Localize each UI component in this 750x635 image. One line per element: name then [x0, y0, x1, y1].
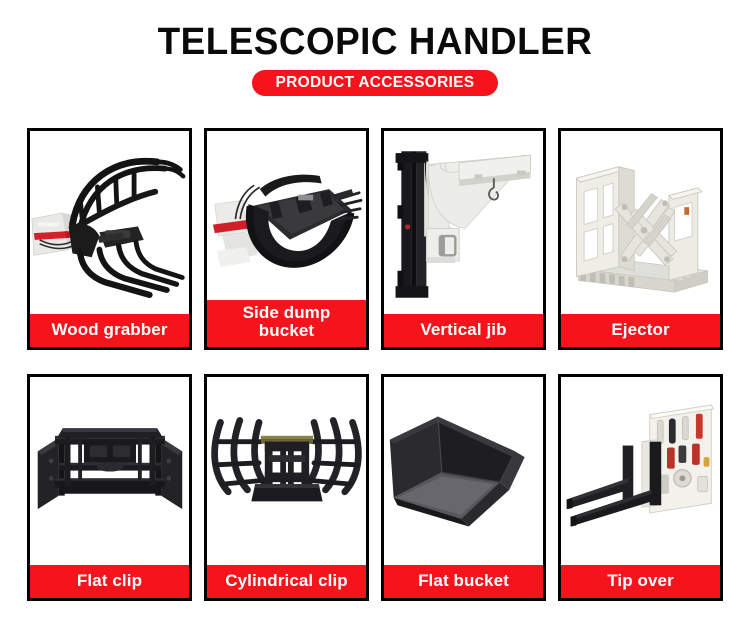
page-title: TELESCOPIC HANDLER [11, 22, 739, 62]
product-card-side-dump-bucket[interactable]: Side dump bucket [204, 128, 369, 350]
product-card-flat-clip[interactable]: Flat clip [27, 374, 192, 601]
page-header: TELESCOPIC HANDLER PRODUCT ACCESSORIES [0, 0, 750, 96]
vertical-jib-icon [384, 131, 543, 314]
product-image-ejector [561, 131, 720, 314]
product-card-ejector[interactable]: Ejector [558, 128, 723, 350]
flat-bucket-icon [384, 377, 543, 565]
product-label-ejector: Ejector [561, 314, 720, 347]
product-label-vertical-jib: Vertical jib [384, 314, 543, 347]
product-label-side-dump-bucket: Side dump bucket [207, 300, 366, 347]
product-image-vertical-jib [384, 131, 543, 314]
grapple-icon [30, 131, 189, 314]
product-image-flat-bucket [384, 377, 543, 565]
tip-over-forks-icon [561, 377, 720, 565]
ejector-icon [561, 131, 720, 314]
product-image-side-dump-bucket [207, 131, 366, 300]
product-card-wood-grabber[interactable]: Wood grabber [27, 128, 192, 350]
product-grid: Wood grabber [27, 128, 723, 601]
flat-clip-icon [30, 377, 189, 565]
product-label-cylindrical-clip: Cylindrical clip [207, 565, 366, 598]
subtitle-badge: PRODUCT ACCESSORIES [252, 70, 499, 96]
product-image-wood-grabber [30, 131, 189, 314]
cylindrical-clip-icon [207, 377, 366, 565]
product-label-flat-bucket: Flat bucket [384, 565, 543, 598]
product-image-flat-clip [30, 377, 189, 565]
product-image-tip-over [561, 377, 720, 565]
subtitle-container: PRODUCT ACCESSORIES [0, 70, 750, 96]
product-card-flat-bucket[interactable]: Flat bucket [381, 374, 546, 601]
product-label-flat-clip: Flat clip [30, 565, 189, 598]
product-card-tip-over[interactable]: Tip over [558, 374, 723, 601]
product-card-cylindrical-clip[interactable]: Cylindrical clip [204, 374, 369, 601]
product-label-wood-grabber: Wood grabber [30, 314, 189, 347]
side-dump-bucket-icon [207, 131, 366, 300]
product-image-cylindrical-clip [207, 377, 366, 565]
product-label-tip-over: Tip over [561, 565, 720, 598]
product-card-vertical-jib[interactable]: Vertical jib [381, 128, 546, 350]
